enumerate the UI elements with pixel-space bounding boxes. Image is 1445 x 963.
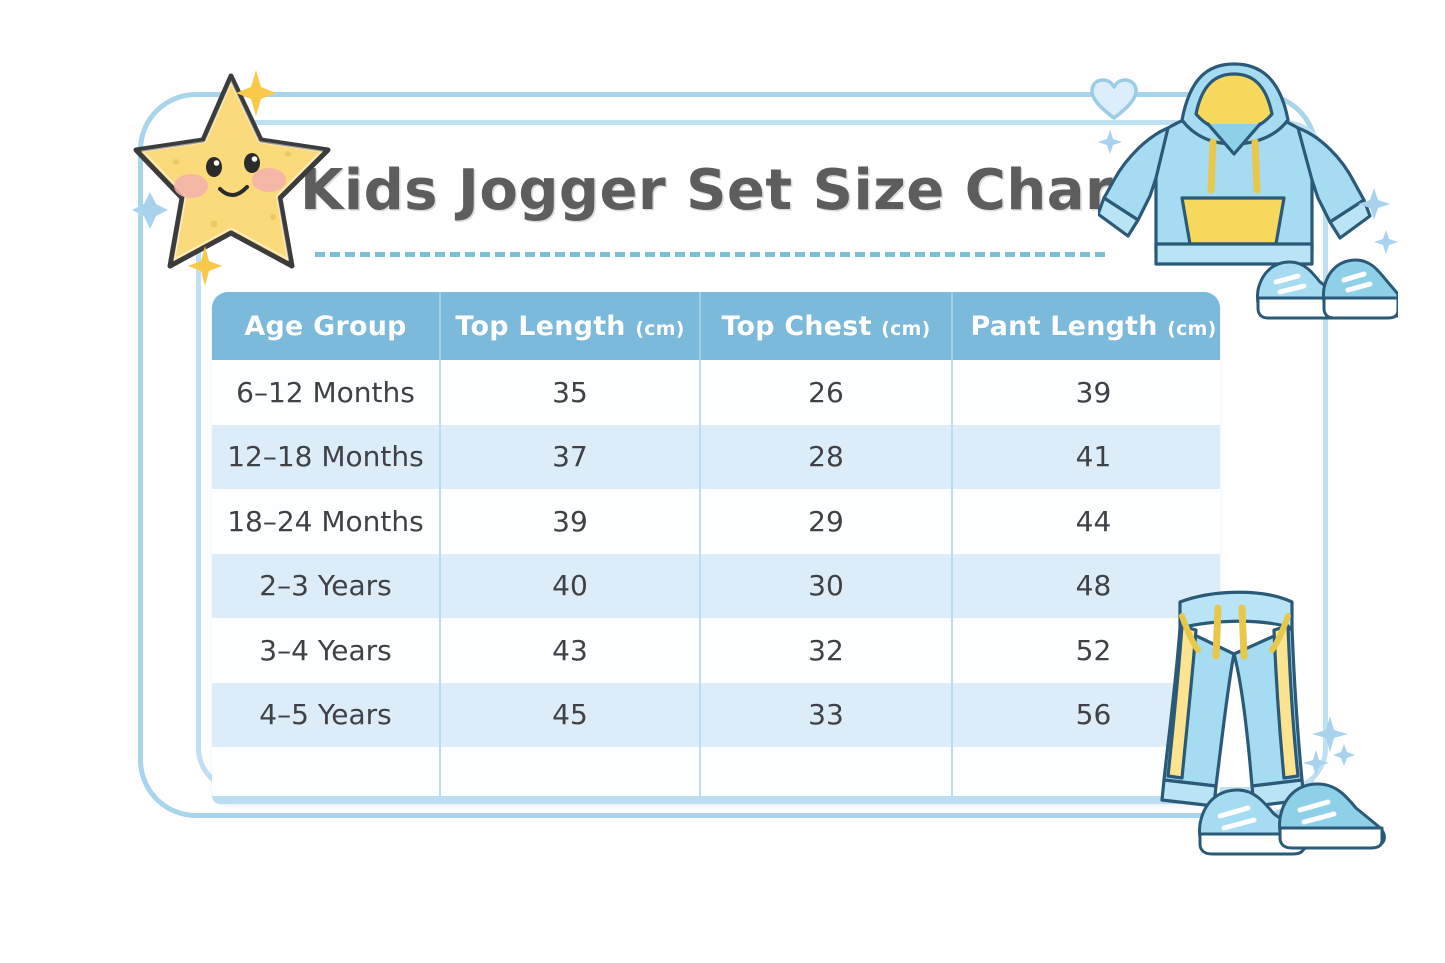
header-label: Age Group: [244, 311, 406, 342]
size-table-head: Age Group Top Length (cm) Top Chest (cm)…: [212, 292, 1220, 360]
header-unit: (cm): [635, 318, 684, 340]
page-title-wrap: Kids Jogger Set Size Chart: [300, 158, 1100, 223]
hoodie-illustration: [1098, 58, 1398, 328]
table-bottom-edge: [212, 796, 1220, 804]
column-header-top-chest: Top Chest (cm): [700, 292, 952, 360]
cell-top-chest: 28: [700, 425, 952, 490]
sparkle-icon: [236, 70, 276, 116]
cell-top-chest: 33: [700, 683, 952, 748]
cell-top-length: 37: [440, 425, 700, 490]
cell-top-chest: 32: [700, 618, 952, 683]
cell-pant-length: 39: [952, 360, 1220, 425]
cell-top-chest: 29: [700, 489, 952, 554]
header-label: Top Chest: [721, 311, 871, 342]
table-row: 12–18 Months 37 28 41: [212, 425, 1220, 490]
cell-top-length: 45: [440, 683, 700, 748]
size-table: Age Group Top Length (cm) Top Chest (cm)…: [212, 292, 1220, 804]
cell-top-length: 40: [440, 554, 700, 619]
cell-pant-length: 44: [952, 489, 1220, 554]
header-unit: (cm): [881, 318, 930, 340]
cell-age-group: 12–18 Months: [212, 425, 440, 490]
cell-top-length: 35: [440, 360, 700, 425]
cell-top-length: 43: [440, 618, 700, 683]
size-table-card: Age Group Top Length (cm) Top Chest (cm)…: [212, 292, 1220, 804]
column-header-top-length: Top Length (cm): [440, 292, 700, 360]
size-chart-poster: Kids Jogger Set Size Chart Age Group Top…: [0, 0, 1445, 963]
cell-top-chest: 30: [700, 554, 952, 619]
table-row: 6–12 Months 35 26 39: [212, 360, 1220, 425]
joggers-illustration: [1152, 572, 1442, 862]
cell-age-group: 6–12 Months: [212, 360, 440, 425]
table-header-row: Age Group Top Length (cm) Top Chest (cm)…: [212, 292, 1220, 360]
title-dashed-divider: [315, 252, 1105, 257]
table-row: 18–24 Months 39 29 44: [212, 489, 1220, 554]
header-label: Top Length: [455, 311, 625, 342]
cell-age-group: 3–4 Years: [212, 618, 440, 683]
cell-age-group: 2–3 Years: [212, 554, 440, 619]
cell-top-chest: 26: [700, 360, 952, 425]
cell-age-group: 4–5 Years: [212, 683, 440, 748]
smiling-star-icon: [128, 62, 338, 287]
column-header-age-group: Age Group: [212, 292, 440, 360]
cell-pant-length: 41: [952, 425, 1220, 490]
page-title: Kids Jogger Set Size Chart: [300, 158, 1100, 223]
table-row: 2–3 Years 40 30 48: [212, 554, 1220, 619]
cell-age-group: 18–24 Months: [212, 489, 440, 554]
table-row: 4–5 Years 45 33 56: [212, 683, 1220, 748]
cell-top-length: 39: [440, 489, 700, 554]
size-table-body: 6–12 Months 35 26 39 12–18 Months 37 28 …: [212, 360, 1220, 804]
table-row: 3–4 Years 43 32 52: [212, 618, 1220, 683]
sparkle-icon: [188, 246, 222, 286]
